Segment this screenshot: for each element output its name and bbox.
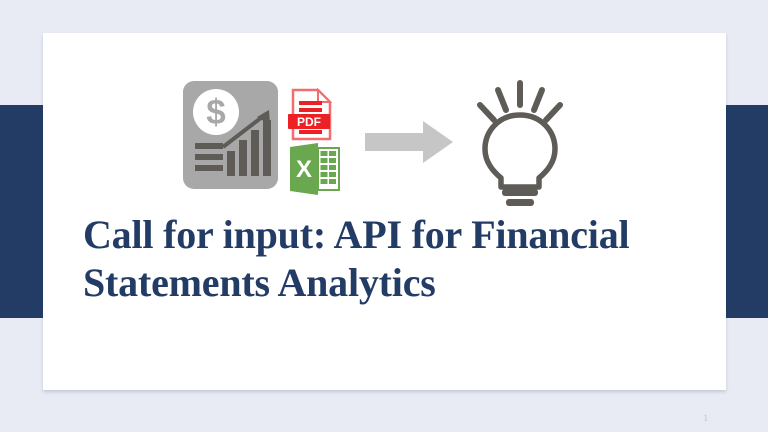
slide-content-card: $: [43, 33, 726, 390]
page-number: 1: [704, 414, 709, 423]
file-format-stack: PDF X: [286, 88, 344, 200]
pdf-label: PDF: [297, 115, 321, 129]
svg-text:$: $: [206, 93, 225, 132]
right-arrow-icon: [365, 121, 453, 163]
page-title: Call for input: API for Financial Statem…: [83, 211, 683, 307]
pdf-file-icon: PDF: [288, 88, 335, 141]
financial-statement-icon: $: [183, 81, 278, 189]
slide-root: $: [0, 0, 768, 432]
graphic-row: $: [43, 79, 726, 209]
excel-label: X: [296, 156, 312, 183]
lightbulb-idea-icon: [468, 79, 573, 209]
excel-file-icon: X: [288, 143, 340, 195]
